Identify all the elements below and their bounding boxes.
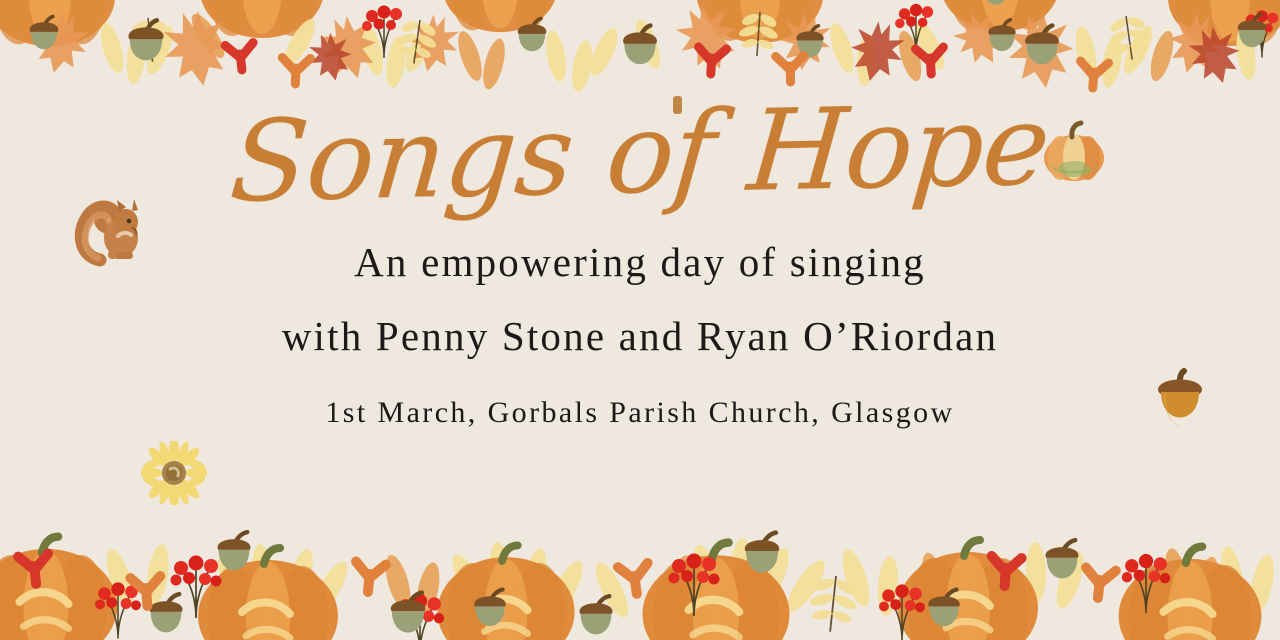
poster-text-block: Songs of Hope An empowering day of singi… — [0, 0, 1280, 640]
event-poster: Songs of Hope An empowering day of singi… — [0, 0, 1280, 640]
event-details: 1st March, Gorbals Parish Church, Glasgo… — [325, 396, 954, 430]
facilitators-line: with Penny Stone and Ryan O’Riordan — [282, 312, 998, 360]
page-title: Songs of Hope — [226, 87, 1053, 222]
tagline: An empowering day of singing — [354, 238, 926, 286]
